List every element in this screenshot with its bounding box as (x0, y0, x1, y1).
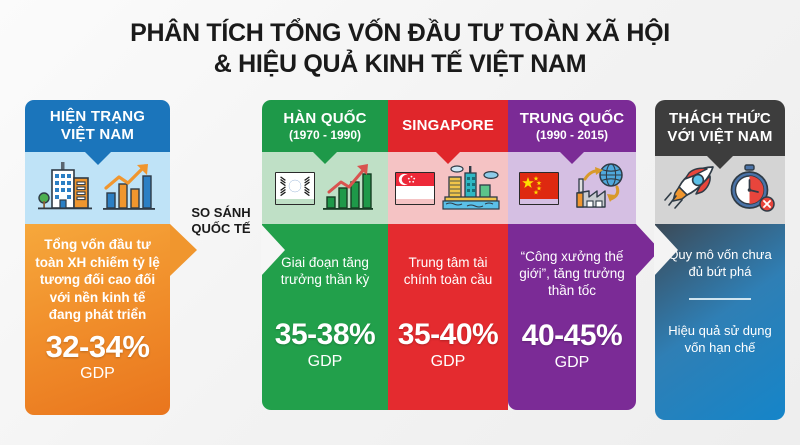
header-notch-singapore (436, 152, 460, 164)
panel-china: TRUNG QUỐC (1990 - 2015) (508, 100, 636, 410)
panel-singapore-header: SINGAPORE (388, 100, 508, 152)
panel-vietnam-body: Tổng vốn đầu tư toàn XH chiếm tỷ lệ tươn… (25, 224, 170, 415)
header-notch-korea (313, 152, 337, 164)
panel-china-unit: GDP (555, 353, 590, 372)
panel-china-header-line-1: TRUNG QUỐC (520, 110, 625, 128)
panel-challenges-header-line-1: THÁCH THỨC (669, 110, 771, 128)
panel-vietnam-header-line-2: VIỆT NAM (61, 126, 134, 144)
page-title-line-2: & HIỆU QUẢ KINH TẾ VIỆT NAM (0, 49, 800, 80)
stopwatch-blocked-icon (725, 163, 777, 218)
city-buildings-icon (37, 160, 95, 217)
panel-singapore-header-line-1: SINGAPORE (402, 117, 494, 135)
connector-label-line-2: QUỐC TẾ (178, 221, 264, 237)
panel-korea-header-line-2: (1970 - 1990) (289, 128, 361, 143)
panel-vietnam-header-line-1: HIỆN TRẠNG (50, 108, 145, 126)
divider (689, 298, 751, 300)
panel-china-header: TRUNG QUỐC (1990 - 2015) (508, 100, 636, 152)
panel-vietnam-current-state: HIỆN TRẠNG VIỆT NAM (25, 100, 170, 415)
panel-vietnam-description: Tổng vốn đầu tư toàn XH chiếm tỷ lệ tươn… (25, 236, 170, 324)
bar-chart-growth-icon (101, 160, 159, 217)
panel-korea-header: HÀN QUỐC (1970 - 1990) (262, 100, 388, 152)
page-title: PHÂN TÍCH TỔNG VỐN ĐẦU TƯ TOÀN XÃ HỘI & … (0, 18, 800, 80)
panel-challenges-header: THÁCH THỨC VỚI VIỆT NAM (655, 100, 785, 156)
panel-singapore-unit: GDP (431, 352, 466, 371)
page-title-line-1: PHÂN TÍCH TỔNG VỐN ĐẦU TƯ TOÀN XÃ HỘI (0, 18, 800, 49)
panel-singapore-description: Trung tâm tài chính toàn cầu (388, 254, 508, 288)
panel-vietnam-unit: GDP (80, 364, 115, 383)
singapore-flag-icon (395, 172, 435, 205)
panel-vietnam-header: HIỆN TRẠNG VIỆT NAM (25, 100, 170, 152)
panel-china-value: 40-45% (522, 319, 622, 353)
panel-china-description: “Công xưởng thế giới”, tăng trưởng thần … (508, 248, 636, 299)
panel-korea-value: 35-38% (275, 318, 375, 352)
panel-china-header-line-2: (1990 - 2015) (536, 128, 608, 143)
south-korea-flag-icon (275, 172, 315, 205)
arrow-notch-korea-left (261, 224, 285, 276)
connector-label-line-1: SO SÁNH (178, 205, 264, 221)
arrow-notch-challenges-left (654, 224, 678, 276)
connector-label-international-comparison: SO SÁNH QUỐC TẾ (178, 205, 264, 237)
panel-challenges-point-2: Hiệu quả sử dụng vốn hạn chế (655, 322, 785, 356)
header-notch-china (560, 152, 584, 164)
panel-singapore-body: Trung tâm tài chính toàn cầu 35-40% GDP (388, 224, 508, 410)
panel-challenges-header-line-2: VỚI VIỆT NAM (667, 128, 772, 146)
factory-globe-icon (565, 161, 625, 216)
panel-south-korea: HÀN QUỐC (1970 - 1990) (262, 100, 388, 410)
panel-korea-unit: GDP (308, 352, 343, 371)
panel-china-body: “Công xưởng thế giới”, tăng trưởng thần … (508, 224, 636, 410)
rocket-icon (663, 163, 719, 218)
panel-challenges-vietnam: THÁCH THỨC VỚI VIỆT NAM (655, 100, 785, 420)
panel-korea-header-line-1: HÀN QUỐC (283, 110, 366, 128)
header-notch-vietnam (85, 152, 111, 165)
panel-vietnam-value: 32-34% (46, 330, 150, 364)
marina-bay-skyline-icon (441, 161, 501, 216)
bar-chart-growth-icon (321, 161, 375, 216)
panel-singapore: SINGAPORE (388, 100, 508, 410)
china-flag-icon (519, 172, 559, 205)
header-notch-challenges (707, 156, 733, 169)
panel-singapore-value: 35-40% (398, 318, 498, 352)
